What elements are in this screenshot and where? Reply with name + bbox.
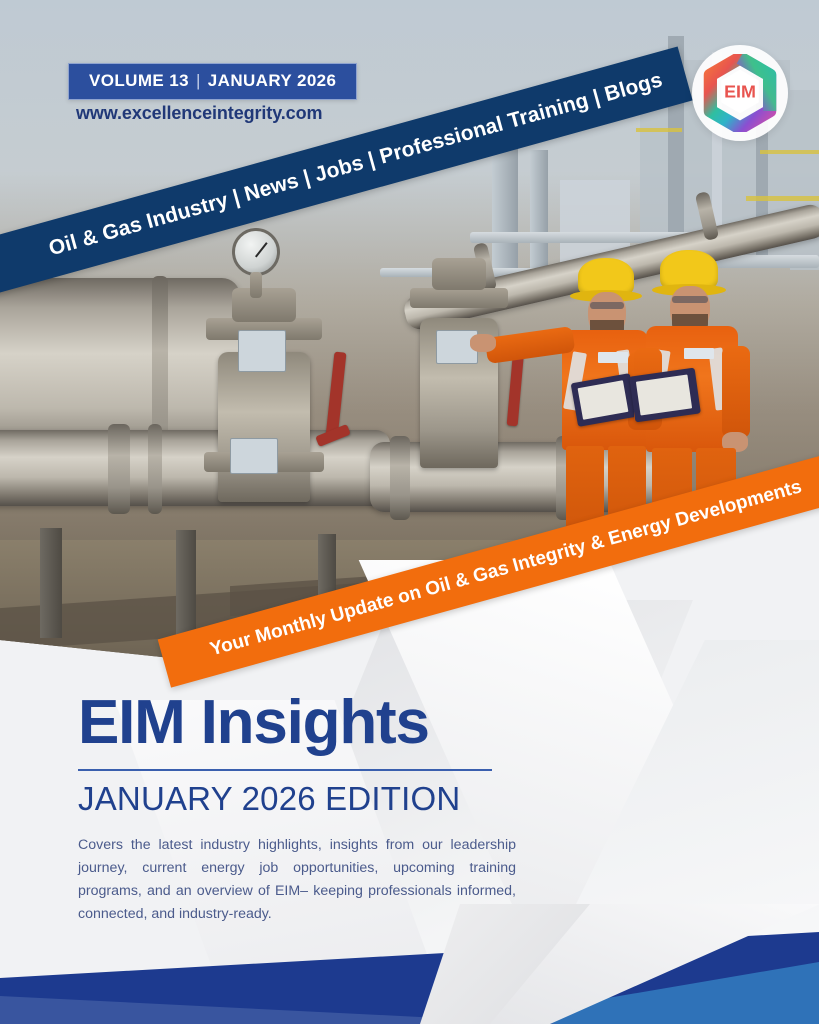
title-divider: [78, 769, 492, 771]
volume-label: VOLUME 13: [89, 71, 189, 90]
issue-date: JANUARY 2026: [208, 71, 337, 90]
page-subtitle: JANUARY 2026 EDITION: [78, 780, 598, 818]
volume-badge: VOLUME 13|JANUARY 2026: [68, 63, 357, 100]
newsletter-cover: Oil & Gas Industry | News | Jobs | Profe…: [0, 0, 819, 1024]
volume-separator: |: [196, 71, 201, 90]
page-title: EIM Insights: [78, 690, 598, 755]
website-url-link[interactable]: www.excellenceintegrity.com: [76, 103, 322, 124]
title-block: EIM Insights JANUARY 2026 EDITION Covers…: [78, 690, 598, 926]
eim-wordmark: EIM: [724, 82, 756, 102]
eim-logo[interactable]: EIM: [692, 45, 788, 141]
cover-blurb: Covers the latest industry highlights, i…: [78, 834, 516, 926]
eim-hexagon-icon: EIM: [701, 54, 779, 132]
